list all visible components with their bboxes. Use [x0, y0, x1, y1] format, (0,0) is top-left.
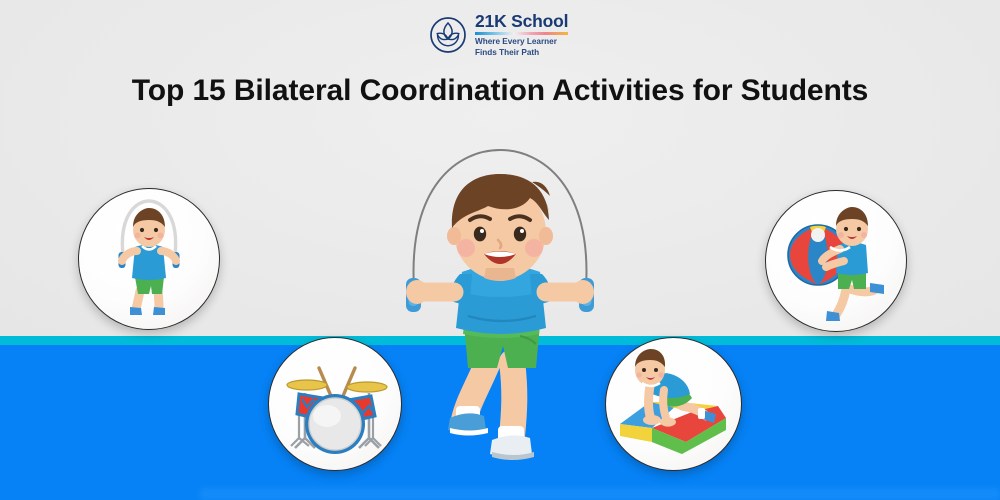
drum-kit-icon: [269, 338, 401, 470]
illustration-circle-beach-ball: [765, 190, 907, 332]
illustration-circle-crawling-mat: [605, 337, 742, 471]
page-title: Top 15 Bilateral Coordination Activities…: [0, 74, 1000, 108]
logo-brand-name: 21K School: [475, 13, 568, 31]
banner-root: 21K School Where Every Learner Finds The…: [0, 0, 1000, 500]
logo-tagline-line2: Finds Their Path: [475, 48, 539, 57]
illustration-circle-jump-rope: [78, 188, 220, 330]
hero-illustration-boy-jumping-rope: [392, 140, 608, 470]
lotus-in-circle-icon: [428, 15, 468, 55]
blue-highlight-strip: [200, 488, 1000, 500]
brand-logo[interactable]: 21K School Where Every Learner Finds The…: [428, 10, 578, 60]
logo-tagline: Where Every Learner Finds Their Path: [475, 37, 568, 57]
logo-tagline-line1: Where Every Learner: [475, 37, 557, 46]
logo-gradient-rule: [475, 32, 568, 35]
boy-holding-ball-icon: [766, 191, 906, 331]
boy-crawling-mat-icon: [606, 338, 741, 470]
illustration-circle-drum-kit: [268, 337, 402, 471]
boy-jumping-rope-large-icon: [392, 140, 608, 470]
boy-skipping-rope-icon: [79, 189, 219, 329]
